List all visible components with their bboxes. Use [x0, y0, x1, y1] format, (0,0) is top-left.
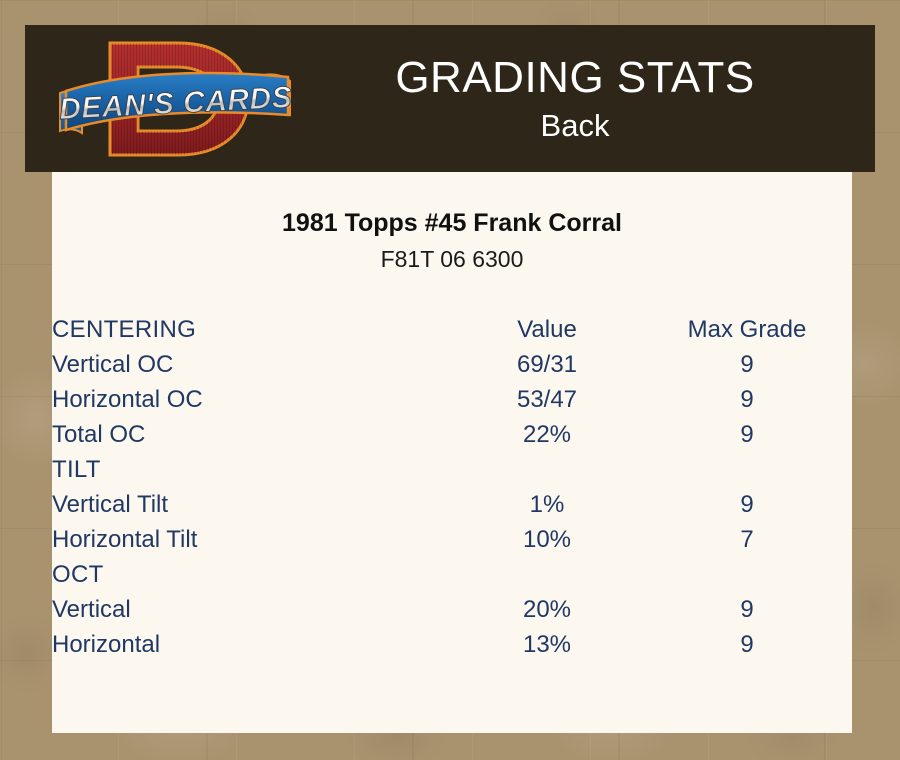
stat-label: Vertical Tilt [52, 487, 452, 522]
stat-max-grade: 9 [642, 592, 852, 627]
stat-max-grade: 7 [642, 522, 852, 557]
stat-row: Horizontal OC53/479 [52, 382, 852, 417]
stat-value: 20% [452, 592, 642, 627]
page-title: GRADING STATS [395, 52, 754, 104]
grading-stats-page: DEAN'S CARDS GRADING STATS Back 1981 Top… [0, 0, 900, 760]
stat-max-grade: 9 [642, 382, 852, 417]
stat-max-grade: 9 [642, 627, 852, 662]
stat-label: Vertical [52, 592, 452, 627]
card-code: F81T 06 6300 [52, 244, 852, 274]
grading-stats-body: CENTERINGValueMax GradeVertical OC69/319… [52, 312, 852, 662]
stat-label: Vertical OC [52, 347, 452, 382]
stat-value: 53/47 [452, 382, 642, 417]
section-header-row: TILT [52, 452, 852, 487]
stat-label: Total OC [52, 417, 452, 452]
section-header-row: CENTERINGValueMax Grade [52, 312, 852, 347]
deans-cards-logo[interactable]: DEAN'S CARDS [52, 29, 302, 169]
stat-value: 13% [452, 627, 642, 662]
stat-label: Horizontal OC [52, 382, 452, 417]
stat-max-grade: 9 [642, 487, 852, 522]
stat-row: Total OC22%9 [52, 417, 852, 452]
stat-row: Horizontal Tilt10%7 [52, 522, 852, 557]
header-bar: DEAN'S CARDS GRADING STATS Back [25, 25, 875, 172]
stat-row: Horizontal13%9 [52, 627, 852, 662]
column-header-value: Value [452, 312, 642, 347]
stat-label: Horizontal [52, 627, 452, 662]
stat-value: 22% [452, 417, 642, 452]
stat-row: Vertical Tilt1%9 [52, 487, 852, 522]
stat-row: Vertical OC69/319 [52, 347, 852, 382]
column-header-max-grade: Max Grade [642, 312, 852, 347]
column-header-value [452, 557, 642, 592]
section-title: OCT [52, 557, 452, 592]
section-header-row: OCT [52, 557, 852, 592]
card-title-block: 1981 Topps #45 Frank Corral F81T 06 6300 [52, 172, 852, 274]
content-panel: 1981 Topps #45 Frank Corral F81T 06 6300… [52, 172, 852, 733]
stat-value: 10% [452, 522, 642, 557]
stat-value: 69/31 [452, 347, 642, 382]
stat-label: Horizontal Tilt [52, 522, 452, 557]
page-subtitle: Back [541, 106, 610, 146]
column-header-max-grade [642, 557, 852, 592]
deans-cards-logo-icon: DEAN'S CARDS [52, 29, 302, 169]
stat-max-grade: 9 [642, 347, 852, 382]
stat-row: Vertical20%9 [52, 592, 852, 627]
column-header-max-grade [642, 452, 852, 487]
section-title: CENTERING [52, 312, 452, 347]
card-title: 1981 Topps #45 Frank Corral [52, 208, 852, 238]
column-header-value [452, 452, 642, 487]
section-title: TILT [52, 452, 452, 487]
stat-max-grade: 9 [642, 417, 852, 452]
grading-stats-table: CENTERINGValueMax GradeVertical OC69/319… [52, 312, 852, 662]
header-text-block: GRADING STATS Back [275, 25, 875, 172]
stat-value: 1% [452, 487, 642, 522]
